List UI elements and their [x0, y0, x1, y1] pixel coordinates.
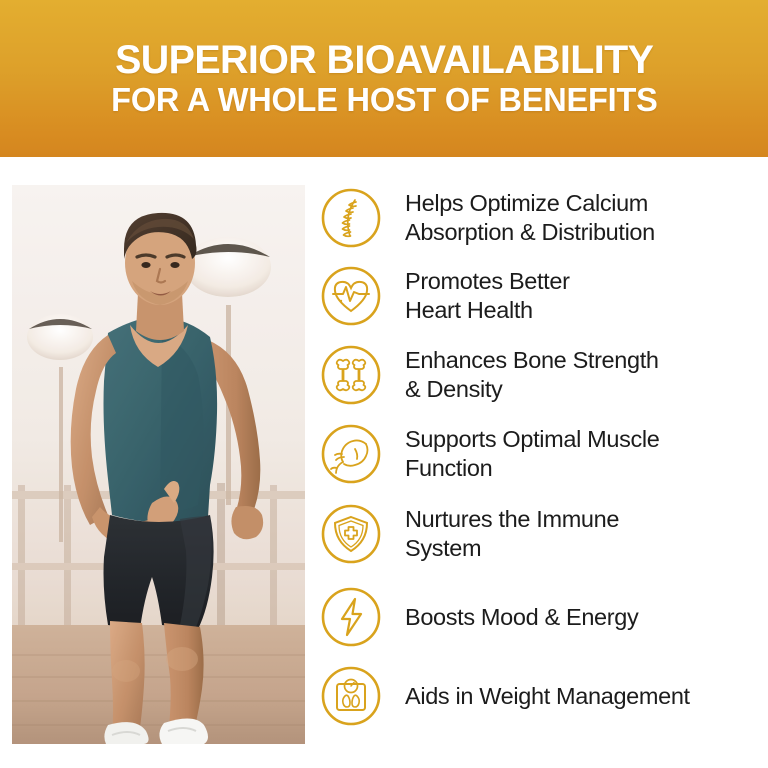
runner-photo — [12, 185, 305, 744]
benefit-line: Heart Health — [405, 296, 768, 325]
benefit-line: Helps Optimize Calcium — [405, 189, 768, 218]
benefit-item: Enhances Bone Strength & Density — [320, 343, 768, 407]
benefit-item: Boosts Mood & Energy — [320, 585, 768, 649]
infographic-page: SUPERIOR BIOAVAILABILITY FOR A WHOLE HOS… — [0, 0, 768, 768]
benefit-line: Enhances Bone Strength — [405, 346, 768, 375]
headline-secondary: FOR A WHOLE HOST OF BENEFITS — [111, 83, 657, 117]
shield-cross-icon — [320, 503, 382, 565]
benefit-label: Helps Optimize Calcium Absorption & Dist… — [405, 189, 768, 246]
headline-primary: SUPERIOR BIOAVAILABILITY — [115, 40, 653, 81]
benefit-line: Promotes Better — [405, 267, 768, 296]
lightning-bolt-icon — [320, 586, 382, 648]
runner-photo-illustration — [12, 185, 305, 744]
weight-scale-icon — [320, 665, 382, 727]
benefit-label: Aids in Weight Management — [405, 682, 768, 711]
benefit-line: Supports Optimal Muscle — [405, 425, 768, 454]
header-banner: SUPERIOR BIOAVAILABILITY FOR A WHOLE HOS… — [0, 0, 768, 157]
benefit-label: Nurtures the Immune System — [405, 505, 768, 562]
benefit-label: Boosts Mood & Energy — [405, 603, 768, 632]
benefit-label: Supports Optimal Muscle Function — [405, 425, 768, 482]
benefit-label: Promotes Better Heart Health — [405, 267, 768, 324]
benefit-label: Enhances Bone Strength & Density — [405, 346, 768, 403]
flexed-bicep-icon — [320, 423, 382, 485]
benefit-item: Helps Optimize Calcium Absorption & Dist… — [320, 186, 768, 250]
heart-pulse-icon — [320, 265, 382, 327]
bones-icon — [320, 344, 382, 406]
benefit-item: Nurtures the Immune System — [320, 502, 768, 566]
benefit-line: Function — [405, 454, 768, 483]
benefit-line: & Density — [405, 375, 768, 404]
spine-icon — [320, 187, 382, 249]
benefit-item: Supports Optimal Muscle Function — [320, 422, 768, 486]
benefit-line: Nurtures the Immune — [405, 505, 768, 534]
benefit-line: System — [405, 534, 768, 563]
benefits-list: Helps Optimize Calcium Absorption & Dist… — [320, 186, 768, 746]
benefit-line: Boosts Mood & Energy — [405, 603, 768, 632]
benefit-line: Absorption & Distribution — [405, 218, 768, 247]
benefit-item: Promotes Better Heart Health — [320, 264, 768, 328]
benefit-item: Aids in Weight Management — [320, 664, 768, 728]
benefit-line: Aids in Weight Management — [405, 682, 768, 711]
